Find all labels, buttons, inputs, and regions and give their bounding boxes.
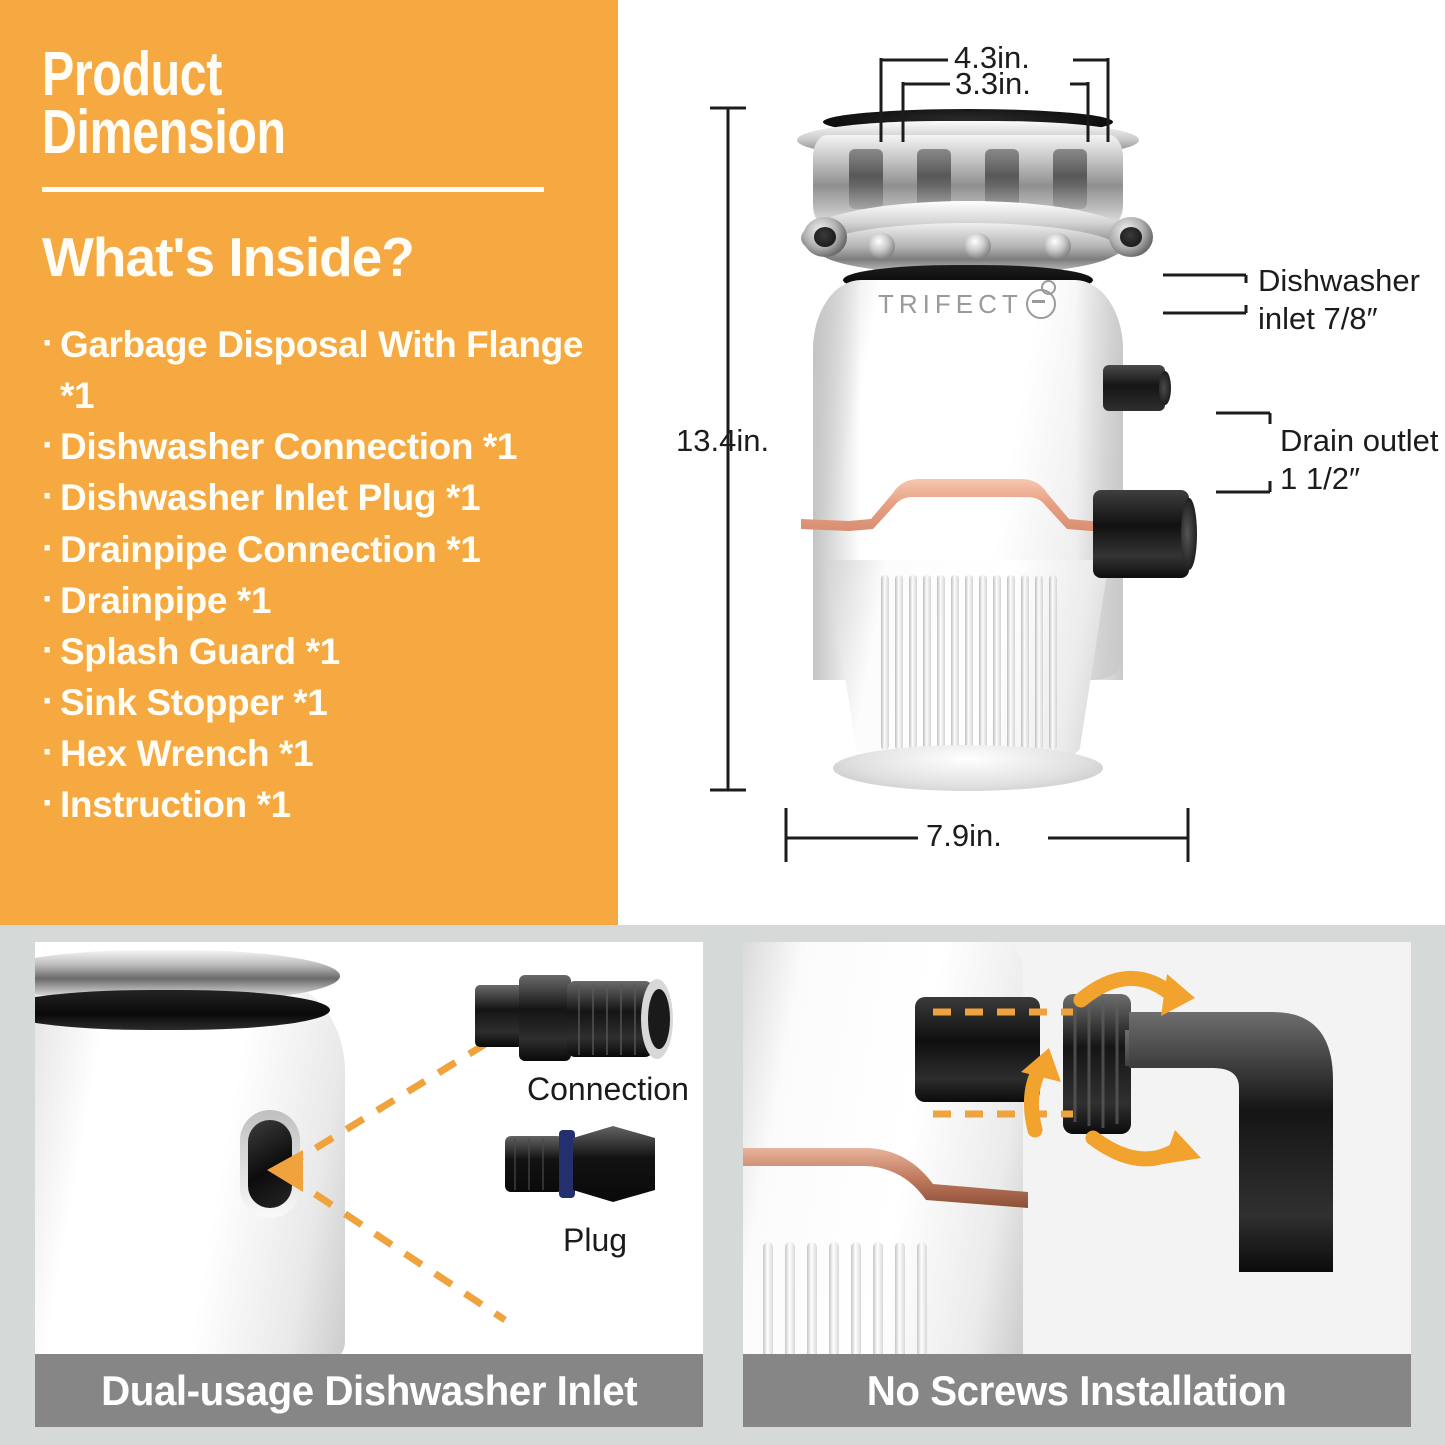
feature-caption-right: No Screws Installation: [743, 1354, 1411, 1427]
feature-panel-dishwasher-inlet: Connection Plug Dual-usage Dishwasher In…: [35, 942, 703, 1427]
dimension-width: 7.9in.: [926, 818, 1002, 854]
list-item: Hex Wrench *1: [42, 728, 588, 779]
list-item: Splash Guard *1: [42, 626, 588, 677]
title-divider: [42, 187, 544, 192]
list-item: Instruction *1: [42, 779, 588, 830]
callout-dishwasher-inlet: Dishwasher inlet 7/8″: [1258, 262, 1420, 339]
product-dimension-section: Product Dimension What's Inside? Garbage…: [0, 0, 1445, 925]
dishwasher-inlet-port: [1103, 365, 1165, 411]
whats-inside-heading: What's Inside?: [42, 230, 588, 285]
dimension-height: 13.4in.: [676, 423, 769, 459]
callout-drain-outlet-line2: 1 1/2″: [1280, 460, 1439, 498]
mount-screw-left: [869, 233, 895, 259]
mount-screw-mid: [965, 233, 991, 259]
feature-caption-left: Dual-usage Dishwasher Inlet: [35, 1354, 703, 1427]
feature-panels-section: Connection Plug Dual-usage Dishwasher In…: [0, 925, 1445, 1445]
title-line-2: Dimension: [42, 104, 468, 162]
mount-lug-left: [803, 217, 847, 257]
whats-inside-list: Garbage Disposal With Flange *1 Dishwash…: [42, 319, 588, 829]
orange-info-panel: Product Dimension What's Inside? Garbage…: [0, 0, 618, 925]
callout-dishwasher-inlet-line1: Dishwasher: [1258, 262, 1420, 300]
list-item: Drainpipe *1: [42, 575, 588, 626]
mount-screw-right: [1045, 233, 1071, 259]
drain-outlet-port: [1093, 490, 1189, 578]
callout-drain-outlet: Drain outlet 1 1/2″: [1280, 422, 1439, 499]
part-label-plug: Plug: [563, 1222, 627, 1259]
list-item: Dishwasher Inlet Plug *1: [42, 472, 588, 523]
list-item: Dishwasher Connection *1: [42, 421, 588, 472]
disposal-base: [833, 745, 1103, 791]
feature-caption-left-text: Dual-usage Dishwasher Inlet: [101, 1367, 637, 1415]
callout-dishwasher-inlet-line2: inlet 7/8″: [1258, 300, 1420, 338]
brand-logo-mark-icon: [1026, 289, 1056, 319]
panel-title: Product Dimension: [42, 46, 588, 161]
feature-panel-no-screws: No Screws Installation: [743, 942, 1411, 1427]
up-arrow-head-icon: [1021, 1048, 1061, 1082]
feature-caption-right-text: No Screws Installation: [867, 1367, 1287, 1415]
dishwasher-connection-part: [475, 967, 690, 1077]
rotate-arrow-head-icon: [1161, 974, 1195, 1016]
arrow-head-icon: [267, 1150, 303, 1192]
brand-logo: TRIFECT: [878, 285, 1058, 323]
product-diagram: TRIFECT: [618, 0, 1445, 925]
mount-lug-right: [1109, 217, 1153, 257]
brand-logo-text: TRIFECT: [878, 289, 1023, 320]
cooling-fins: [881, 575, 1059, 755]
list-item: Drainpipe Connection *1: [42, 524, 588, 575]
part-label-connection: Connection: [527, 1071, 689, 1108]
callout-drain-outlet-line1: Drain outlet: [1280, 422, 1439, 460]
list-item: Sink Stopper *1: [42, 677, 588, 728]
list-item: Garbage Disposal With Flange *1: [42, 319, 588, 421]
rose-gold-accent-band: [801, 475, 1136, 545]
garbage-disposal-illustration: TRIFECT: [773, 105, 1193, 805]
dimension-top-inner: 3.3in.: [955, 66, 1031, 102]
dishwasher-inlet-plug-part: [505, 1120, 665, 1210]
title-line-1: Product: [42, 46, 468, 104]
